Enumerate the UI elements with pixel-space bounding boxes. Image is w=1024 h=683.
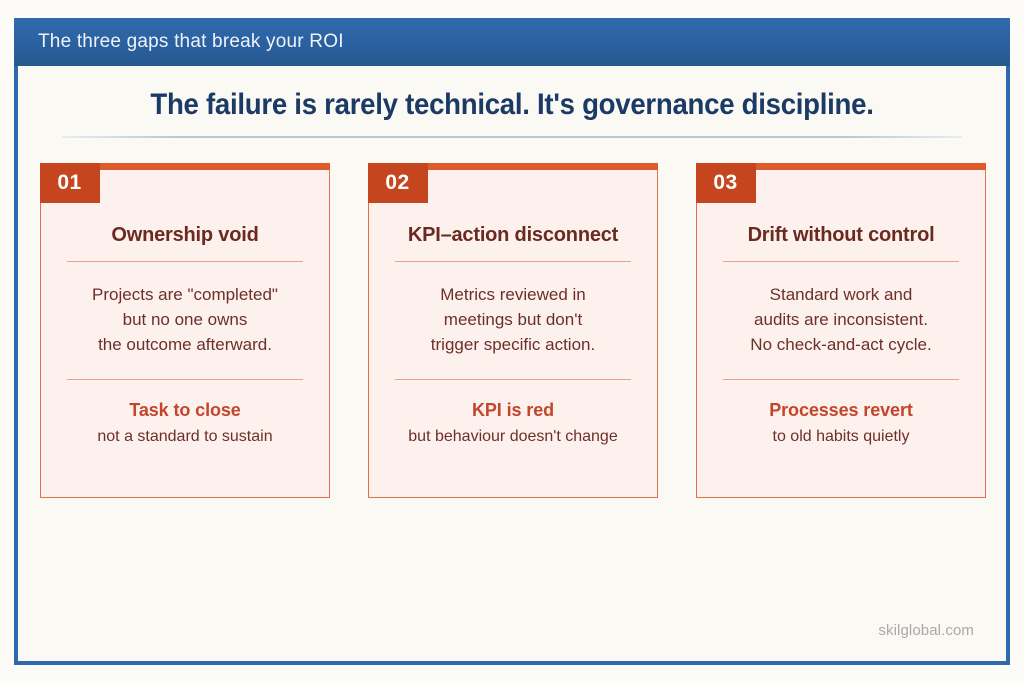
- card-body-line: the outcome afterward.: [55, 332, 315, 357]
- card-title: Drift without control: [711, 224, 971, 247]
- card-subtext: but behaviour doesn't change: [383, 428, 643, 446]
- card-body: Projects are "completed" but no one owns…: [55, 282, 315, 357]
- card-body-line: Projects are "completed": [55, 282, 315, 307]
- page-title: The failure is rarely technical. It's go…: [58, 88, 967, 122]
- card-body-line: No check-and-act cycle.: [711, 332, 971, 357]
- slide-header-bar: The three gaps that break your ROI: [14, 18, 1010, 66]
- slide-content: The failure is rarely technical. It's go…: [18, 66, 1006, 661]
- card-body-line: trigger specific action.: [383, 332, 643, 357]
- gap-card-2[interactable]: 02 KPI–action disconnect Metrics reviewe…: [368, 170, 658, 498]
- card-body-line: Metrics reviewed in: [383, 282, 643, 307]
- card-body-line: Standard work and: [711, 282, 971, 307]
- card-divider-top: [395, 261, 631, 262]
- card-body-line: audits are inconsistent.: [711, 307, 971, 332]
- card-title: Ownership void: [55, 224, 315, 247]
- card-divider-bottom: [395, 379, 631, 380]
- card-body-line: but no one owns: [55, 307, 315, 332]
- watermark: skilglobal.com: [878, 622, 974, 639]
- card-subtext: to old habits quietly: [711, 428, 971, 446]
- heading-divider: [62, 136, 962, 138]
- card-highlight: KPI is red: [383, 400, 643, 421]
- card-number-badge: 02: [368, 163, 428, 203]
- card-divider-top: [67, 261, 303, 262]
- card-divider-bottom: [67, 379, 303, 380]
- card-body-line: meetings but don't: [383, 307, 643, 332]
- card-highlight: Task to close: [55, 400, 315, 421]
- card-body: Standard work and audits are inconsisten…: [711, 282, 971, 357]
- card-subtext: not a standard to sustain: [55, 428, 315, 446]
- card-title: KPI–action disconnect: [383, 224, 643, 247]
- slide-header-title: The three gaps that break your ROI: [14, 31, 344, 53]
- card-divider-bottom: [723, 379, 959, 380]
- cards-row: 01 Ownership void Projects are "complete…: [40, 170, 986, 498]
- gap-card-3[interactable]: 03 Drift without control Standard work a…: [696, 170, 986, 498]
- card-body: Metrics reviewed in meetings but don't t…: [383, 282, 643, 357]
- card-highlight: Processes revert: [711, 400, 971, 421]
- card-divider-top: [723, 261, 959, 262]
- card-number-badge: 03: [696, 163, 756, 203]
- slide-canvas: The three gaps that break your ROI The f…: [0, 0, 1024, 683]
- gap-card-1[interactable]: 01 Ownership void Projects are "complete…: [40, 170, 330, 498]
- card-number-badge: 01: [40, 163, 100, 203]
